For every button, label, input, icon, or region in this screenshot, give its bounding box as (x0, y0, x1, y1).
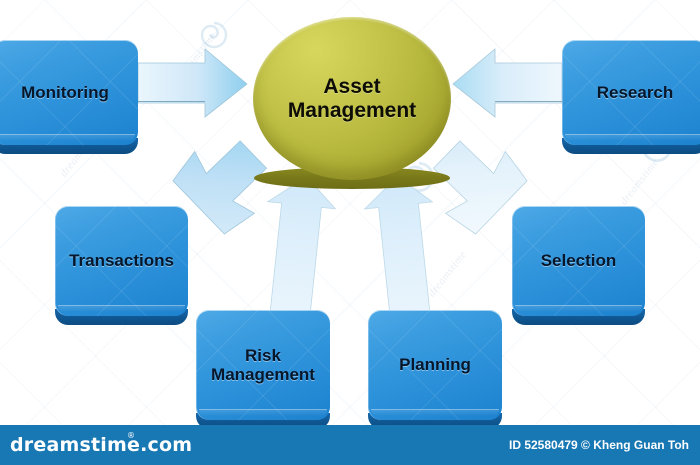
node-label-line1: Research (597, 83, 674, 102)
node-rim (565, 134, 700, 141)
node-transactions[interactable]: Transactions (55, 206, 188, 316)
node-rim (0, 134, 135, 141)
arrow-planning-to-hub (362, 173, 445, 323)
node-label-risk-management: Risk Management (205, 346, 321, 384)
node-selection[interactable]: Selection (512, 206, 645, 316)
node-label-line1: Transactions (69, 251, 174, 270)
node-rim (371, 409, 499, 416)
node-label-research: Research (591, 83, 680, 102)
node-risk-management[interactable]: Risk Management (196, 310, 330, 420)
node-research[interactable]: Research (562, 40, 700, 145)
diagram-canvas: dreamstime dreamstime dreamstime dreamst… (0, 0, 700, 465)
node-rim (58, 305, 185, 312)
hub-asset-management[interactable]: Asset Management (253, 17, 451, 180)
node-monitoring[interactable]: Monitoring (0, 40, 138, 145)
node-rim (515, 305, 642, 312)
node-planning[interactable]: Planning (368, 310, 502, 420)
hub-label-line1: Asset (323, 75, 380, 98)
node-label-line1: Planning (399, 355, 471, 374)
node-label-transactions: Transactions (63, 251, 180, 270)
node-label-line1: Monitoring (21, 83, 109, 102)
footer-bar: ® dreamstime.com ID 52580479 © Kheng Gua… (0, 425, 700, 465)
node-label-planning: Planning (393, 355, 477, 374)
node-label-line1: Risk (245, 346, 281, 365)
arrow-research-to-hub (453, 49, 562, 117)
registered-mark-icon: ® (127, 431, 135, 440)
image-credit: ID 52580479 © Kheng Guan Toh (509, 438, 689, 452)
node-label-monitoring: Monitoring (15, 83, 115, 102)
node-label-selection: Selection (535, 251, 623, 270)
dreamstime-logo[interactable]: ® dreamstime.com (10, 434, 192, 456)
arrow-risk-to-hub (256, 173, 339, 323)
hub-label-line2: Management (288, 99, 416, 122)
node-rim (199, 409, 327, 416)
hub-label: Asset Management (288, 75, 416, 123)
node-label-line2: Management (211, 365, 315, 384)
node-label-line1: Selection (541, 251, 617, 270)
arrow-monitoring-to-hub (138, 49, 247, 117)
dreamstime-logo-text: dreamstime.com (10, 434, 192, 456)
